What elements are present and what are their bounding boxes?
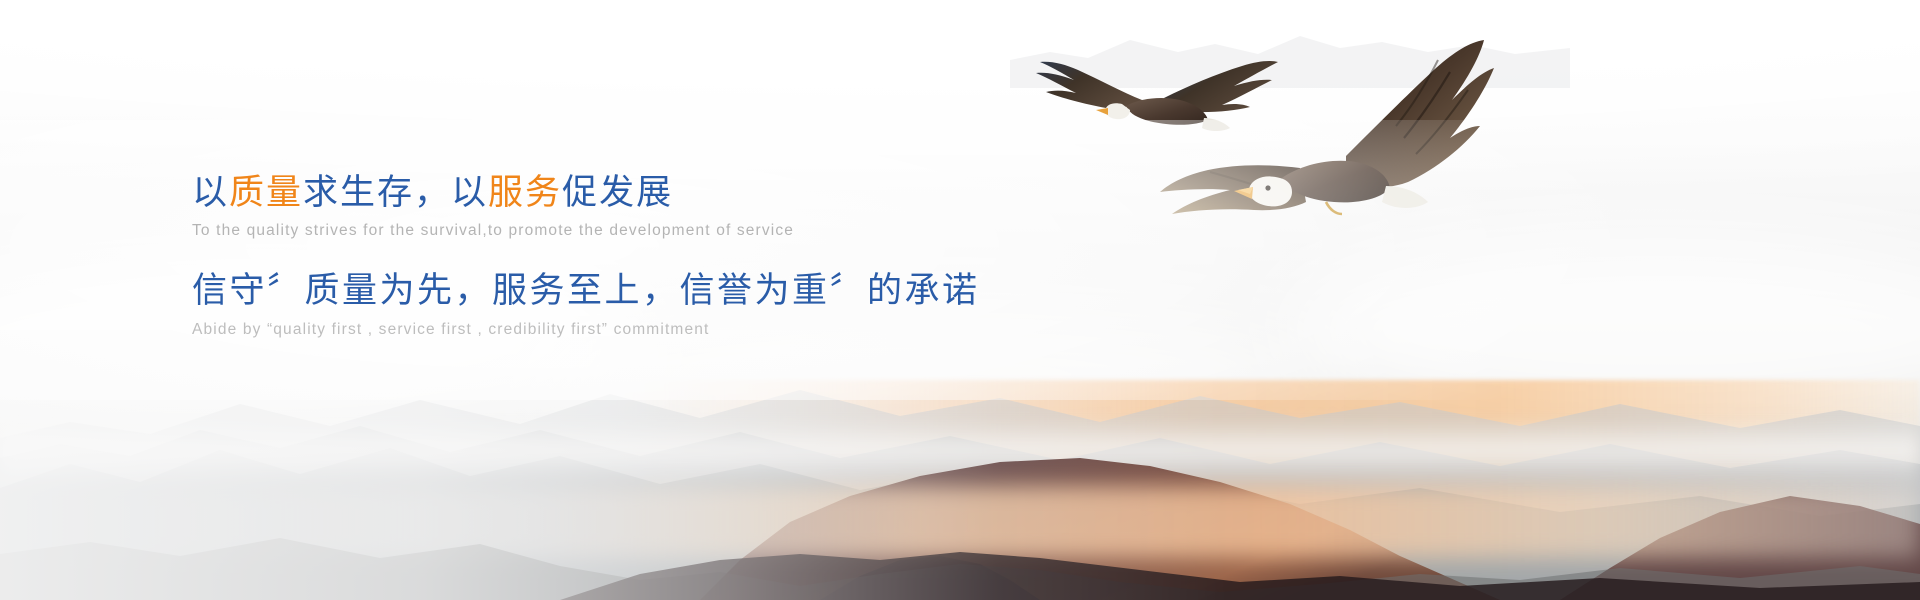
slogan-block-2: 信守〞质量为先，服务至上，信誉为重〞的承诺 Abide by “quality …	[192, 270, 1192, 338]
headline-1-part-2: 求生存，以	[303, 173, 488, 212]
mountain-layer-foreground	[0, 508, 1920, 600]
headline-1-part-3-accent: 服务	[488, 173, 562, 212]
mist-band-upper	[0, 418, 1920, 488]
slogan-block-1: 以质量求生存，以服务促发展 To the quality strives for…	[192, 172, 1192, 240]
slogan-copy-block: 以质量求生存，以服务促发展 To the quality strives for…	[192, 172, 1192, 339]
cloud-wash-right	[1280, 230, 1920, 430]
sunset-glow	[0, 380, 1920, 600]
fog-river	[0, 486, 1920, 558]
headline-1-part-4: 促发展	[562, 173, 673, 212]
left-wash-overlay	[0, 330, 1920, 600]
headline-secondary: 信守〞质量为先，服务至上，信誉为重〞的承诺	[192, 270, 1192, 311]
mountain-layer-left-grey	[0, 430, 1920, 600]
subtitle-secondary: Abide by “quality first , service first …	[192, 321, 1192, 339]
headline-1-part-1-accent: 质量	[229, 173, 303, 212]
mountain-layer-far	[0, 342, 1920, 600]
subtitle-primary: To the quality strives for the survival,…	[192, 222, 1192, 240]
headline-primary: 以质量求生存，以服务促发展	[192, 172, 1192, 213]
mountain-layer-dark-right	[0, 400, 1920, 600]
headline-1-part-0: 以	[192, 173, 229, 212]
mountain-layer-mid	[0, 386, 1920, 600]
sky-haze	[0, 0, 1920, 190]
bald-eagle-large-icon	[1150, 38, 1500, 238]
hero-banner: 以质量求生存，以服务促发展 To the quality strives for…	[0, 0, 1920, 600]
